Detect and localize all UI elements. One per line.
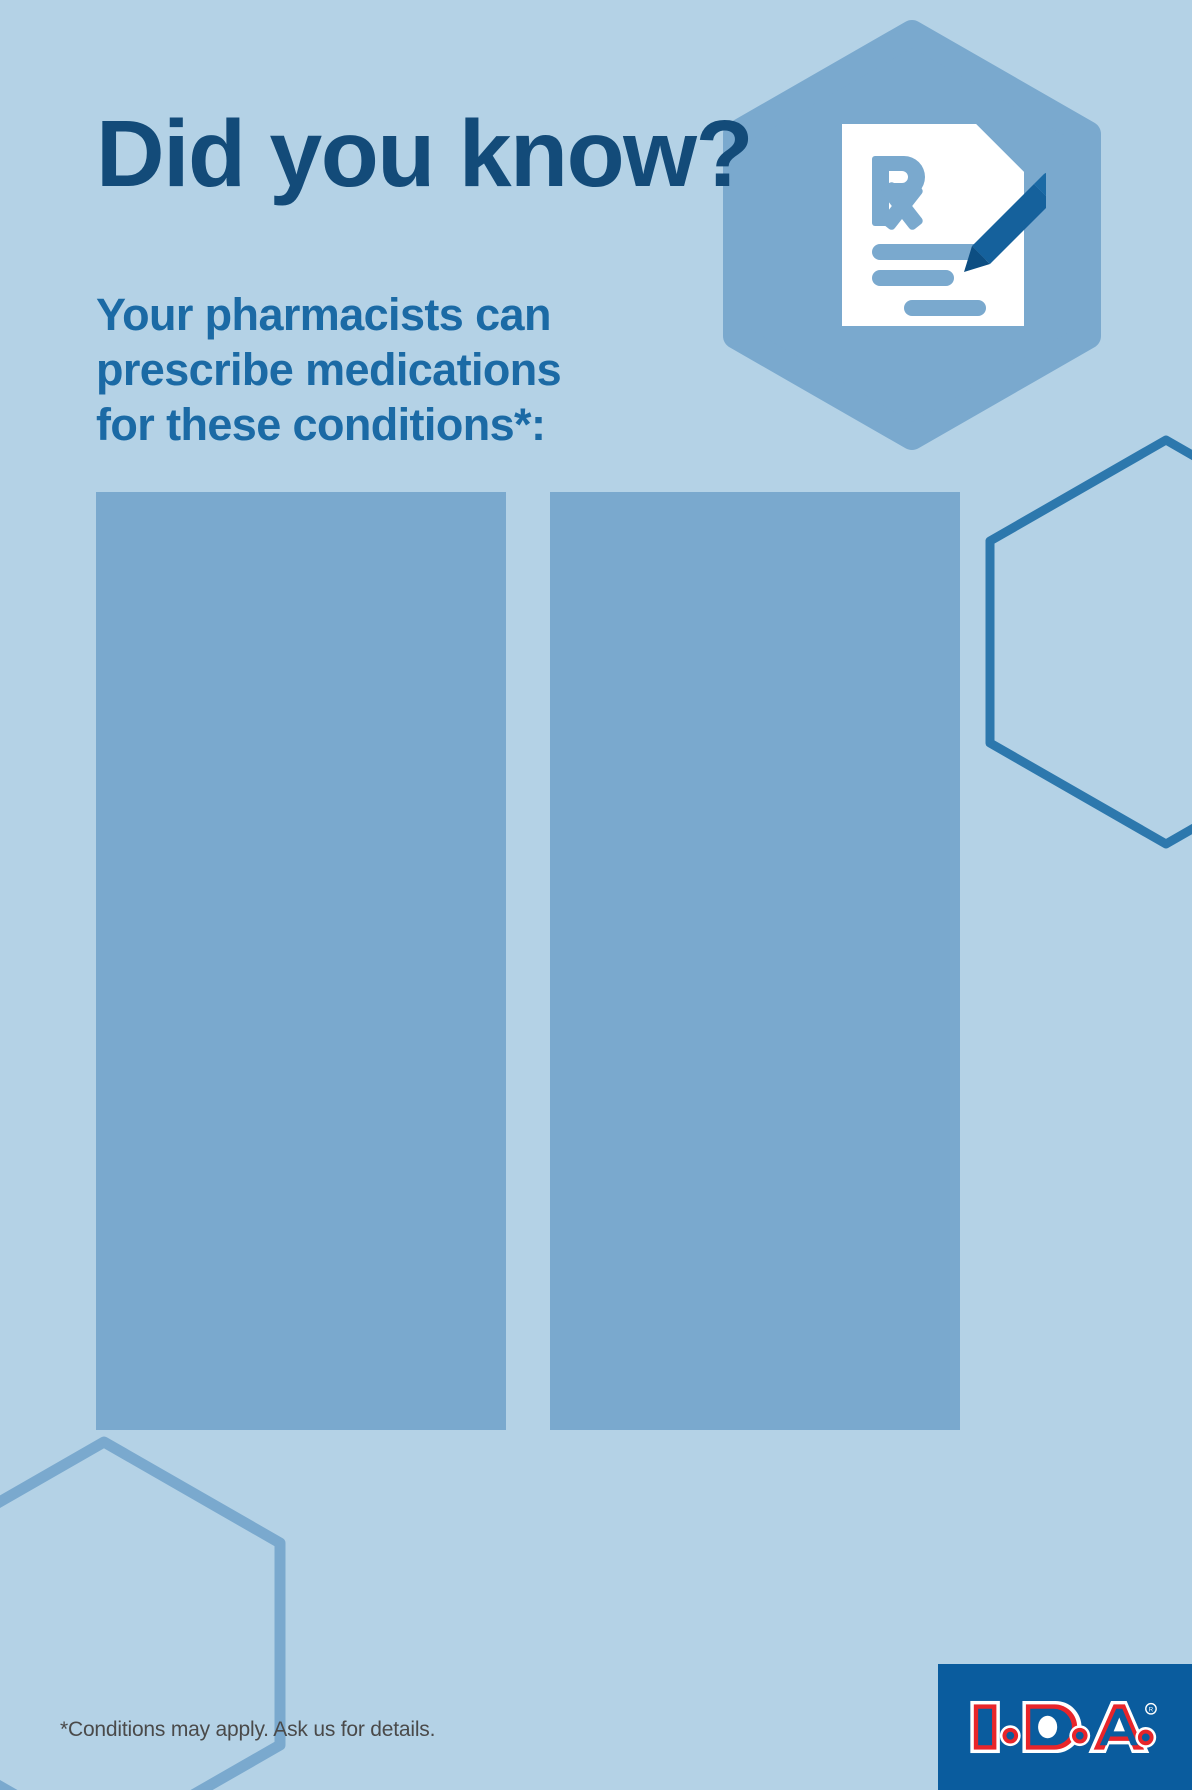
page-title: Did you know? — [96, 107, 752, 202]
footnote-disclaimer: *Conditions may apply. Ask us for detail… — [60, 1718, 435, 1742]
registered-trademark-glyph: R — [1149, 1707, 1154, 1713]
ida-logo: R — [938, 1664, 1192, 1790]
poster-canvas: Did you know? Your pharmacists can presc… — [0, 0, 1192, 1790]
ida-logo-mark: R — [965, 1694, 1165, 1760]
prescription-rx-document-icon — [838, 120, 1046, 330]
rx-symbol — [872, 156, 925, 231]
conditions-column-left — [96, 492, 506, 1430]
conditions-column-right — [550, 492, 960, 1430]
document-signature-line — [904, 300, 986, 316]
conditions-panel-group — [96, 492, 1096, 1430]
document-folded-corner — [976, 124, 1024, 172]
document-line-2 — [872, 270, 954, 286]
subheading: Your pharmacists can prescribe medicatio… — [96, 288, 561, 453]
